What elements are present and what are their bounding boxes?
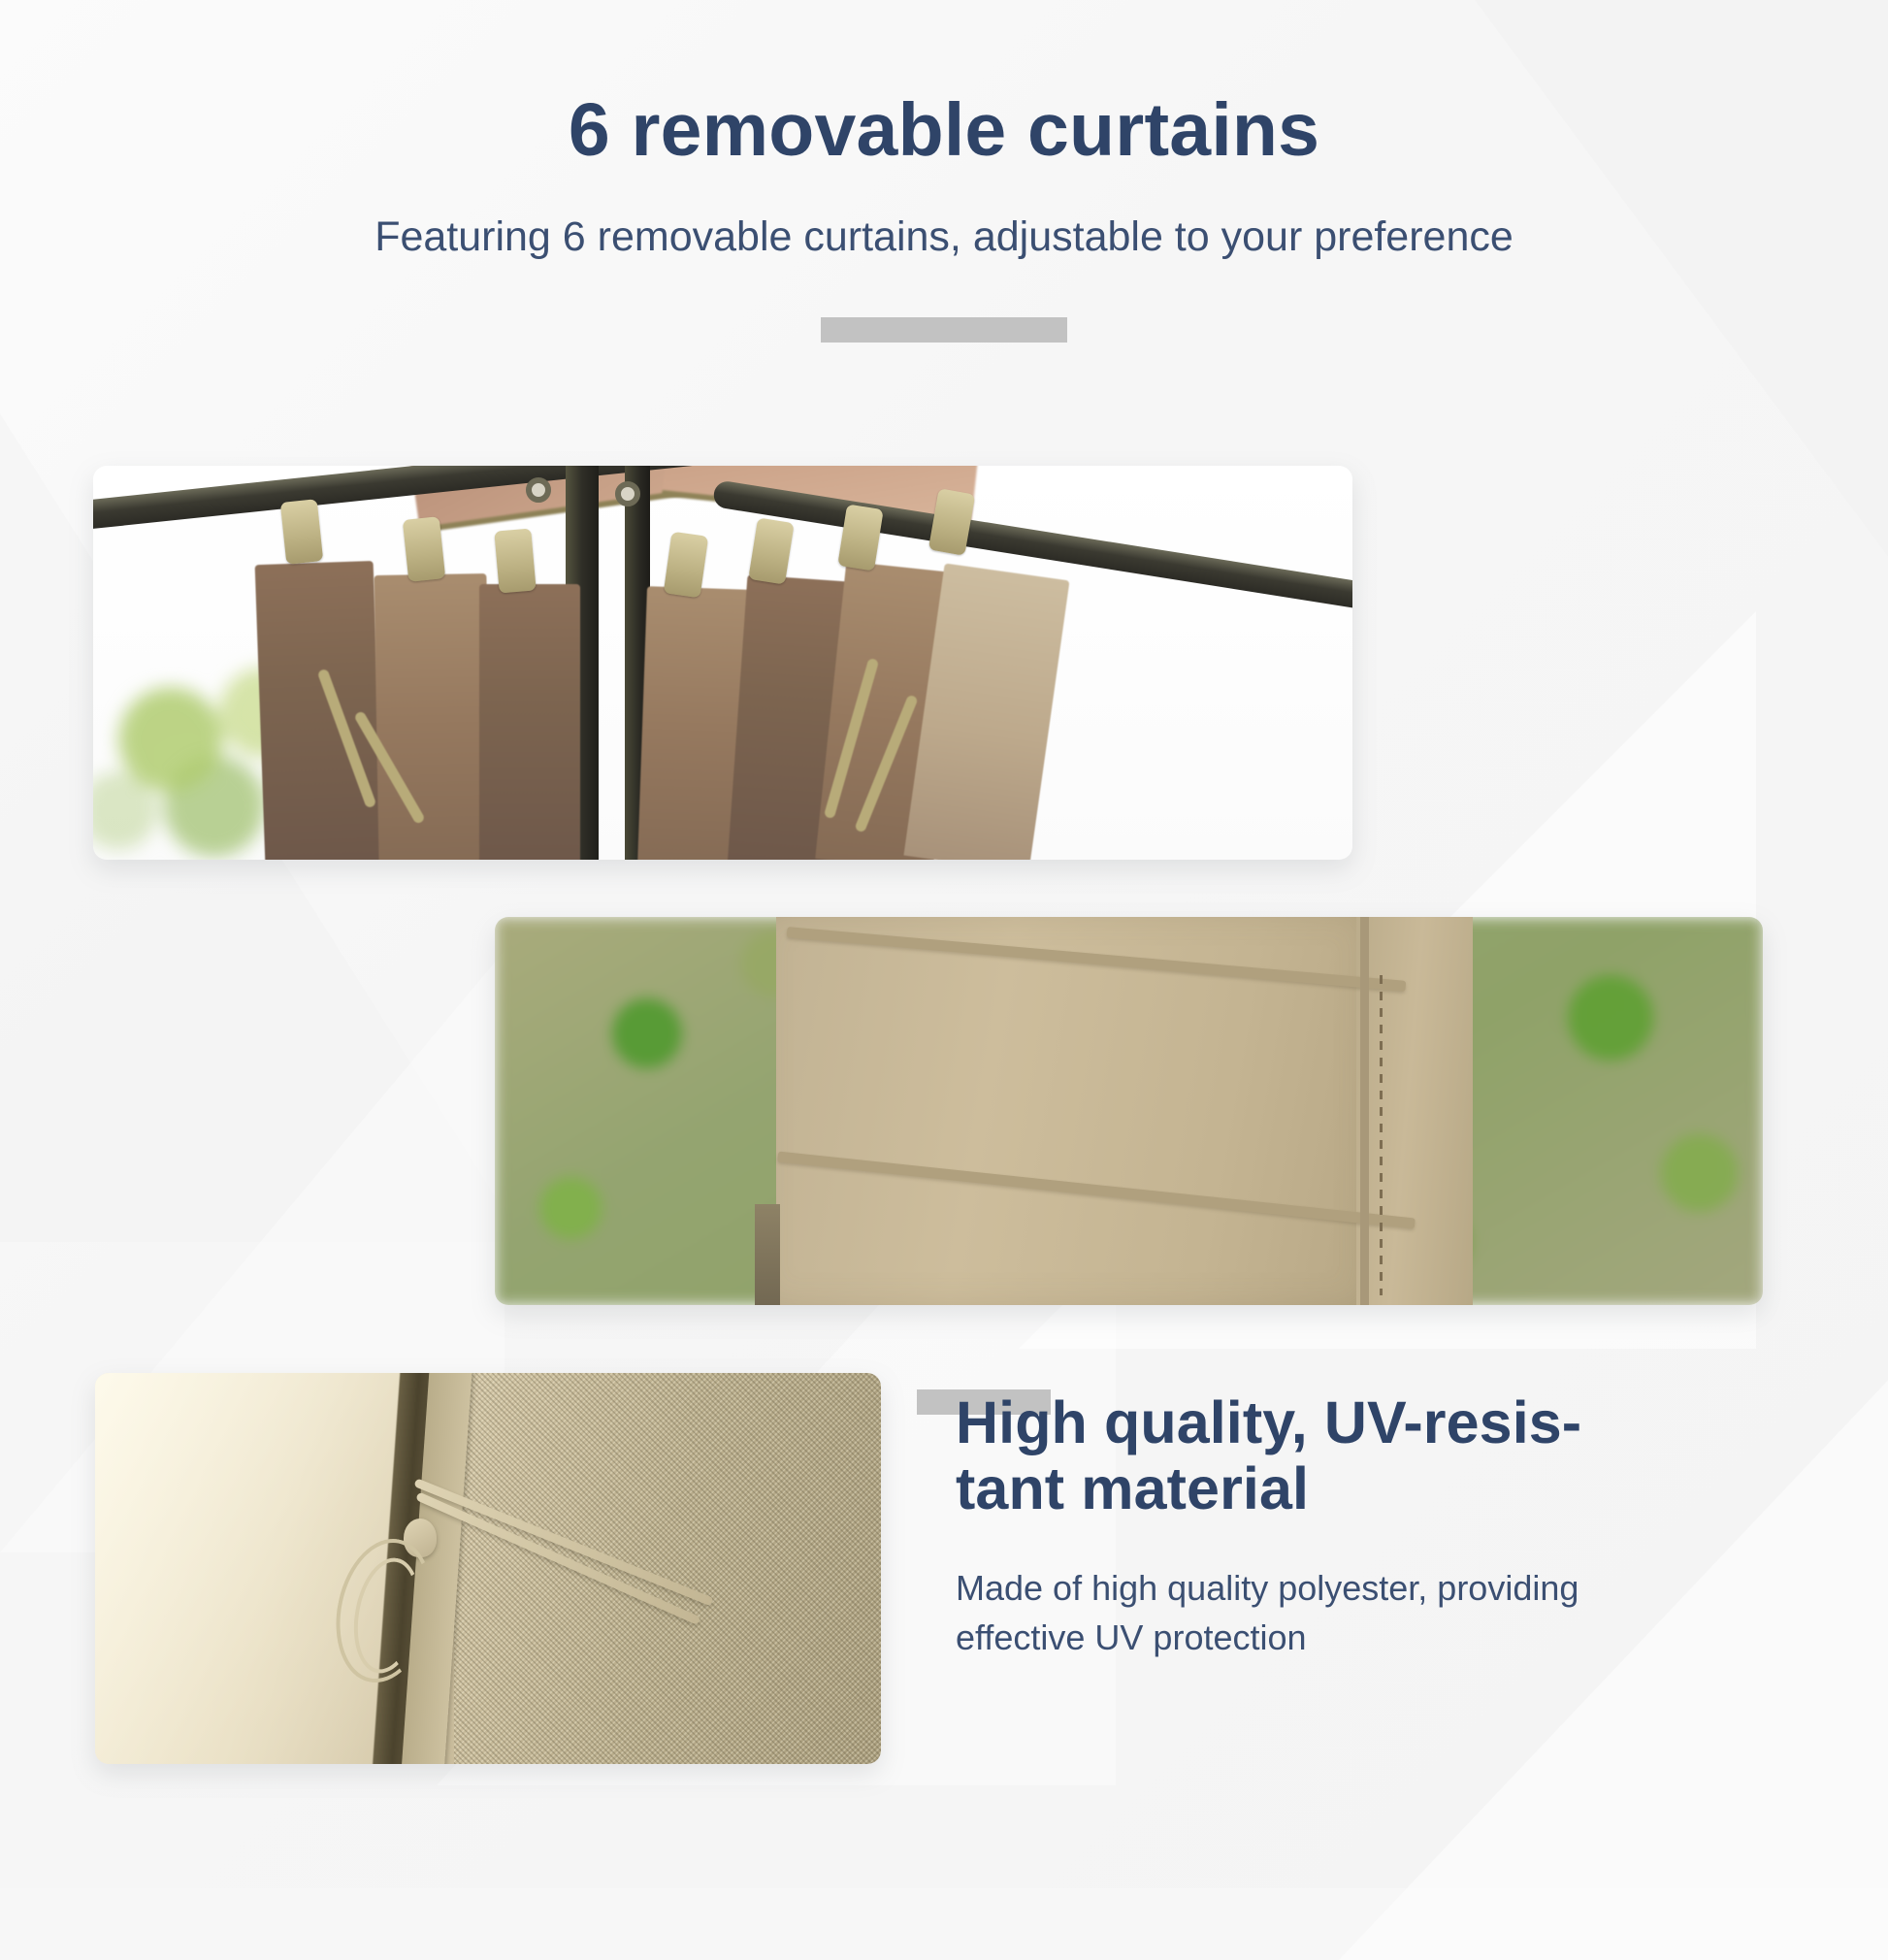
page-subtitle: Featuring 6 removable curtains, adjustab…	[0, 212, 1888, 263]
page-header: 6 removable curtains Featuring 6 removab…	[0, 0, 1888, 343]
fabric-panel	[1356, 917, 1473, 1305]
feature-heading: High quality, UV-resis- tant material	[956, 1389, 1761, 1522]
page-title: 6 removable curtains	[0, 93, 1888, 168]
fabric-seam	[1360, 917, 1369, 1305]
curtain-panel	[374, 573, 491, 860]
stitch-line	[1380, 975, 1383, 1295]
curtain-panel	[255, 561, 384, 860]
curtain-rail-photo	[93, 466, 1352, 860]
title-divider-bar	[821, 317, 1067, 343]
page-root: 6 removable curtains Featuring 6 removab…	[0, 0, 1888, 1888]
grommet-icon	[615, 481, 640, 506]
velcro-strap	[280, 499, 323, 565]
fabric-grass-photo	[495, 917, 1763, 1305]
tie-detail-photo	[95, 1373, 881, 1764]
curtain-panel	[479, 584, 580, 860]
feature-text-block: High quality, UV-resis- tant material Ma…	[956, 1389, 1761, 1662]
feature-body: Made of high quality polyester, providin…	[956, 1563, 1761, 1662]
grommet-icon	[526, 477, 551, 503]
velcro-strap	[494, 528, 536, 593]
fabric-weave-texture	[454, 1373, 881, 1764]
velcro-strap	[403, 516, 445, 582]
fabric-shadow-gap	[755, 1204, 780, 1305]
